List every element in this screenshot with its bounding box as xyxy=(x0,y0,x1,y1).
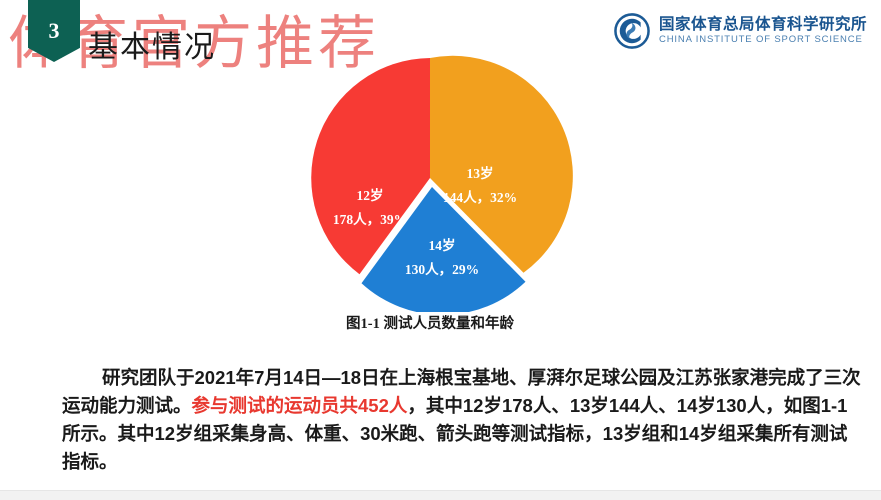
bottom-bar xyxy=(0,490,881,500)
page-title: 基本情况 xyxy=(88,22,216,66)
body-paragraph: 研究团队于2021年7月14日—18日在上海根宝基地、厚湃尔足球公园及江苏张家港… xyxy=(62,364,862,476)
pie-label-14-name: 14岁 xyxy=(429,237,456,253)
paragraph-line-2b: ，其中12岁178人、13岁144人、 xyxy=(407,395,676,416)
paragraph-line-1: 研究团队于2021年7月14日—18日在上海根宝基地、厚湃尔足球公园及江苏张家港 xyxy=(102,367,768,388)
pie-label-13-name: 13岁 xyxy=(467,165,494,181)
slide-canvas: 体育官方推荐 3 基本情况 国家体育总局体育科学研究所 CHINA INSTIT… xyxy=(0,0,881,500)
pie-chart: 12岁 178人，39% 13岁 144人，32% 14岁 130人，29% 图… xyxy=(280,50,580,320)
logo-text-block: 国家体育总局体育科学研究所 CHINA INSTITUTE OF SPORT S… xyxy=(659,16,867,46)
pie-label-13-value: 144人，32% xyxy=(443,190,517,205)
institute-emblem-icon xyxy=(614,13,650,49)
paragraph-highlight-total: 参与测试的运动员共452人 xyxy=(192,395,408,416)
pie-chart-svg: 12岁 178人，39% 13岁 144人，32% 14岁 130人，29% xyxy=(280,50,580,312)
logo-name-en: CHINA INSTITUTE OF SPORT SCIENCE xyxy=(659,34,867,46)
institute-logo: 国家体育总局体育科学研究所 CHINA INSTITUTE OF SPORT S… xyxy=(614,10,867,52)
logo-name-cn: 国家体育总局体育科学研究所 xyxy=(659,16,867,34)
pie-label-14-value: 130人，29% xyxy=(405,262,479,277)
section-number: 3 xyxy=(28,20,80,42)
chart-caption: 图1-1 测试人员数量和年龄 xyxy=(280,312,580,333)
pie-label-12-value: 178人，39% xyxy=(333,212,407,227)
pie-label-12-name: 12岁 xyxy=(357,187,384,203)
